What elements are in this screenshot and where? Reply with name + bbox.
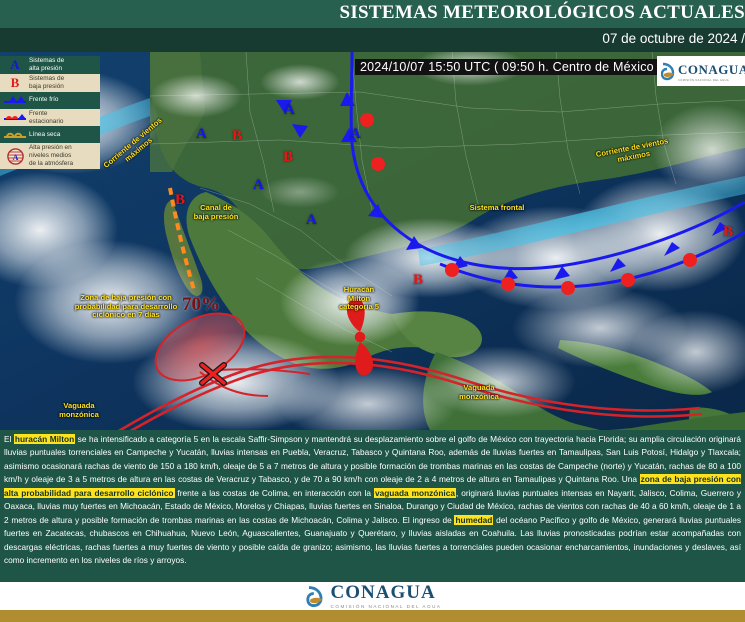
label-canal-baja-presion: Canal de baja presión [176, 204, 256, 221]
conagua-logo-top-sub: COMISIÓN NACIONAL DEL AGUA [678, 79, 745, 82]
conagua-logo-top: CONAGUA COMISIÓN NACIONAL DEL AGUA [657, 56, 745, 86]
high-pressure-symbol: A [196, 126, 207, 143]
high-pressure-symbol: A [253, 177, 264, 194]
low-pressure-symbol: B [413, 272, 423, 289]
bulletin-part-1: El [4, 434, 14, 444]
cold-front-icon [2, 95, 28, 105]
bulletin-part-2: se ha intensificado a categoría 5 en la … [4, 434, 741, 484]
high-pressure-symbol: A [350, 126, 361, 143]
bulletin-text: El huracán Milton se ha intensificado a … [0, 430, 745, 582]
stationary-front-icon [2, 113, 28, 123]
label-vaguada-monzonica-west: Vaguada monzónica [40, 402, 118, 419]
footer-gold-bar [0, 610, 745, 622]
low-pressure-symbol: B [723, 224, 733, 241]
weather-map[interactable]: 2024/10/07 15:50 UTC ( 09:50 h. Centro d… [0, 52, 745, 430]
bulletin-date: 07 de octubre de 2024 / [602, 31, 745, 46]
legend-label-baja-presion: Sistemas de baja presión [28, 75, 98, 91]
legend-item-frente-frio: Frente frío [0, 92, 100, 109]
low-pressure-symbol: B [283, 149, 293, 166]
low-pressure-symbol: B [232, 128, 242, 145]
legend-item-linea-seca: Línea seca [0, 126, 100, 143]
label-probability-70: 70% [182, 294, 220, 316]
high-pressure-symbol: A [306, 212, 317, 229]
label-zona-baja-presion: Zona de baja presión con probabilidad pa… [56, 294, 196, 320]
legend-item-frente-estacionario: Frente estacionario [0, 109, 100, 127]
bulletin-part-3: frente a las costas de Colima, en intera… [175, 488, 374, 498]
legend-label-frente-estacionario: Frente estacionario [28, 110, 98, 126]
label-vaguada-monzonica-east: Vaguada monzónica [440, 384, 518, 401]
dry-line-icon [2, 130, 28, 140]
label-huracan-milton: Huracán Milton categoría 5 [320, 286, 398, 312]
legend-label-linea-seca: Línea seca [28, 131, 98, 139]
page-footer: CONAGUA COMISIÓN NACIONAL DEL AGUA [0, 582, 745, 610]
conagua-swoosh-icon [661, 61, 675, 81]
bulletin-highlight-humedad: humedad [454, 515, 493, 525]
legend-label-alta-presion: Sistemas de alta presión [28, 57, 98, 73]
mid-level-high-icon: A [2, 148, 28, 165]
high-pressure-symbol: A [284, 102, 295, 119]
legend-item-baja-presion: B Sistemas de baja presión [0, 74, 100, 92]
legend-item-alta-presion: A Sistemas de alta presión [0, 56, 100, 74]
satellite-imagery [0, 52, 745, 430]
conagua-swoosh-footer-icon [304, 584, 326, 608]
page-subheader: 07 de octubre de 2024 / [0, 28, 745, 52]
map-legend: A Sistemas de alta presión B Sistemas de… [0, 56, 100, 169]
letter-a-blue-icon: A [2, 57, 28, 73]
legend-label-alta-niveles-medios: Alta presión en niveles medios de la atm… [28, 144, 98, 167]
conagua-logo-top-word: CONAGUA [678, 62, 745, 77]
page-title: SISTEMAS METEOROLÓGICOS ACTUALES [339, 2, 745, 24]
bulletin-highlight-milton: huracán Milton [14, 434, 75, 444]
letter-b-red-icon: B [2, 75, 28, 91]
bulletin-highlight-vaguada: vaguada monzónica [374, 488, 456, 498]
page-header: SISTEMAS METEOROLÓGICOS ACTUALES [0, 0, 745, 28]
map-timestamp: 2024/10/07 15:50 UTC ( 09:50 h. Centro d… [355, 59, 667, 75]
label-sistema-frontal: Sistema frontal [452, 204, 542, 213]
conagua-footer-sub: COMISIÓN NACIONAL DEL AGUA [331, 604, 442, 609]
legend-label-frente-frio: Frente frío [28, 96, 98, 104]
svg-text:A: A [12, 153, 18, 162]
conagua-footer-word: CONAGUA [331, 582, 436, 603]
legend-item-alta-niveles-medios: A Alta presión en niveles medios de la a… [0, 143, 100, 168]
